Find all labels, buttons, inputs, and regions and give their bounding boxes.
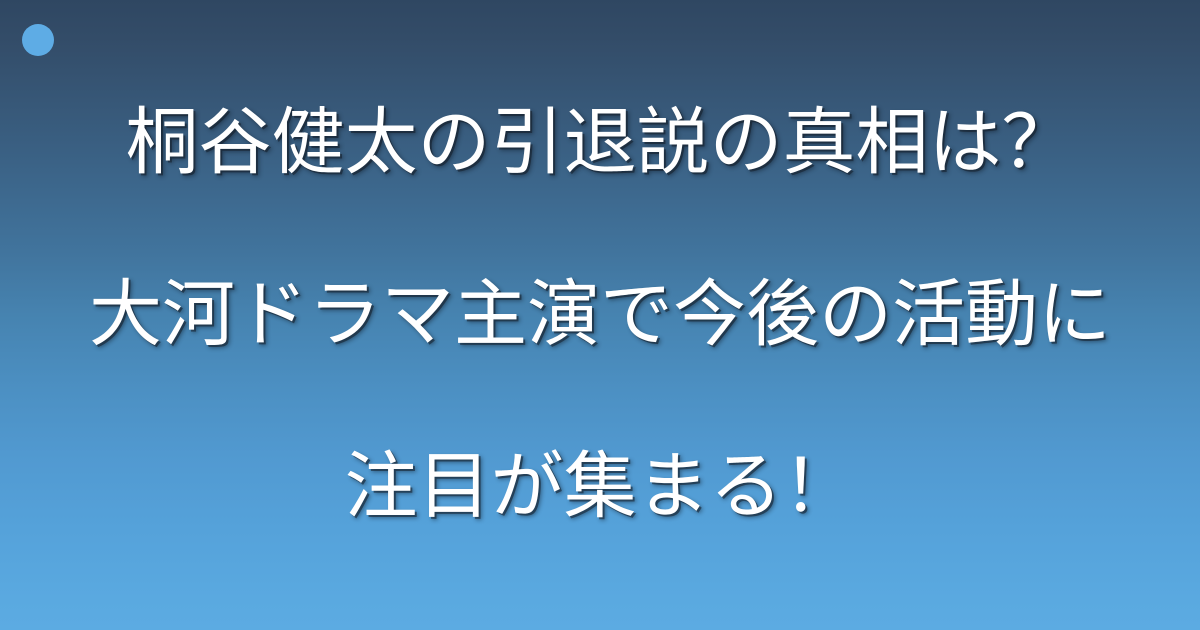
page-title-line-1: 桐谷健太の引退説の真相は？ [40,100,1160,186]
ogp-card: 桐谷健太の引退説の真相は？ 大河ドラマ主演で今後の活動に 注目が集まる！ [0,0,1200,630]
page-title: 桐谷健太の引退説の真相は？ 大河ドラマ主演で今後の活動に 注目が集まる！ [40,14,1160,616]
title-container: 桐谷健太の引退説の真相は？ 大河ドラマ主演で今後の活動に 注目が集まる！ [0,0,1200,630]
page-title-line-3: 注目が集まる！ [40,444,1160,530]
page-title-line-2: 大河ドラマ主演で今後の活動に [40,272,1160,358]
